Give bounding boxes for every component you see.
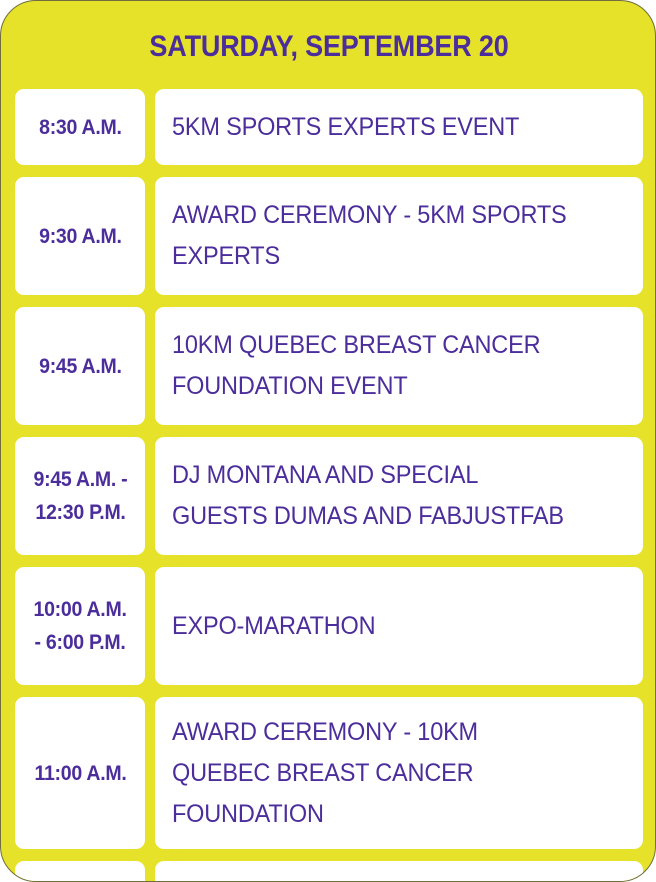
- time-label: 9:45 A.M.: [39, 350, 122, 383]
- event-label: 1KM EVENT: [172, 879, 304, 882]
- event-cell[interactable]: 1KM EVENT: [155, 861, 643, 882]
- time-label: 8:30 A.M.: [39, 111, 122, 144]
- schedule-row[interactable]: 10:00 A.M. - 6:00 P.M. EXPO-MARATHON: [15, 567, 643, 685]
- schedule-list: 8:30 A.M. 5KM SPORTS EXPERTS EVENT 9:30 …: [15, 89, 643, 882]
- time-cell[interactable]: 11:15 AM: [15, 861, 145, 882]
- event-cell[interactable]: DJ MONTANA AND SPECIAL GUESTS DUMAS AND …: [155, 437, 643, 555]
- event-cell[interactable]: AWARD CEREMONY - 5KM SPORTS EXPERTS: [155, 177, 643, 295]
- time-label: 10:00 A.M. - 6:00 P.M.: [33, 593, 126, 659]
- time-label: 9:30 A.M.: [39, 220, 122, 253]
- time-label: 9:45 A.M. - 12:30 P.M.: [33, 463, 127, 529]
- event-label: 5KM SPORTS EXPERTS EVENT: [172, 107, 519, 148]
- time-cell[interactable]: 11:00 A.M.: [15, 697, 145, 849]
- time-label: 11:00 A.M.: [34, 757, 126, 790]
- event-label: AWARD CEREMONY - 5KM SPORTS EXPERTS: [172, 195, 566, 277]
- time-cell[interactable]: 10:00 A.M. - 6:00 P.M.: [15, 567, 145, 685]
- event-cell[interactable]: 10KM QUEBEC BREAST CANCER FOUNDATION EVE…: [155, 307, 643, 425]
- event-cell[interactable]: EXPO-MARATHON: [155, 567, 643, 685]
- event-label: EXPO-MARATHON: [172, 606, 375, 647]
- event-label: AWARD CEREMONY - 10KM QUEBEC BREAST CANC…: [172, 712, 478, 835]
- event-label: DJ MONTANA AND SPECIAL GUESTS DUMAS AND …: [172, 455, 564, 537]
- schedule-row[interactable]: 11:15 AM 1KM EVENT: [15, 861, 643, 882]
- event-cell[interactable]: AWARD CEREMONY - 10KM QUEBEC BREAST CANC…: [155, 697, 643, 849]
- event-cell[interactable]: 5KM SPORTS EXPERTS EVENT: [155, 89, 643, 165]
- time-cell[interactable]: 8:30 A.M.: [15, 89, 145, 165]
- page-title: SATURDAY, SEPTEMBER 20: [34, 29, 624, 65]
- schedule-row[interactable]: 9:30 A.M. AWARD CEREMONY - 5KM SPORTS EX…: [15, 177, 643, 295]
- schedule-panel: SATURDAY, SEPTEMBER 20 8:30 A.M. 5KM SPO…: [0, 0, 656, 882]
- time-cell[interactable]: 9:45 A.M.: [15, 307, 145, 425]
- time-cell[interactable]: 9:45 A.M. - 12:30 P.M.: [15, 437, 145, 555]
- schedule-row[interactable]: 9:45 A.M. - 12:30 P.M. DJ MONTANA AND SP…: [15, 437, 643, 555]
- time-cell[interactable]: 9:30 A.M.: [15, 177, 145, 295]
- schedule-row[interactable]: 11:00 A.M. AWARD CEREMONY - 10KM QUEBEC …: [15, 697, 643, 849]
- schedule-row[interactable]: 9:45 A.M. 10KM QUEBEC BREAST CANCER FOUN…: [15, 307, 643, 425]
- schedule-row[interactable]: 8:30 A.M. 5KM SPORTS EXPERTS EVENT: [15, 89, 643, 165]
- event-label: 10KM QUEBEC BREAST CANCER FOUNDATION EVE…: [172, 325, 540, 407]
